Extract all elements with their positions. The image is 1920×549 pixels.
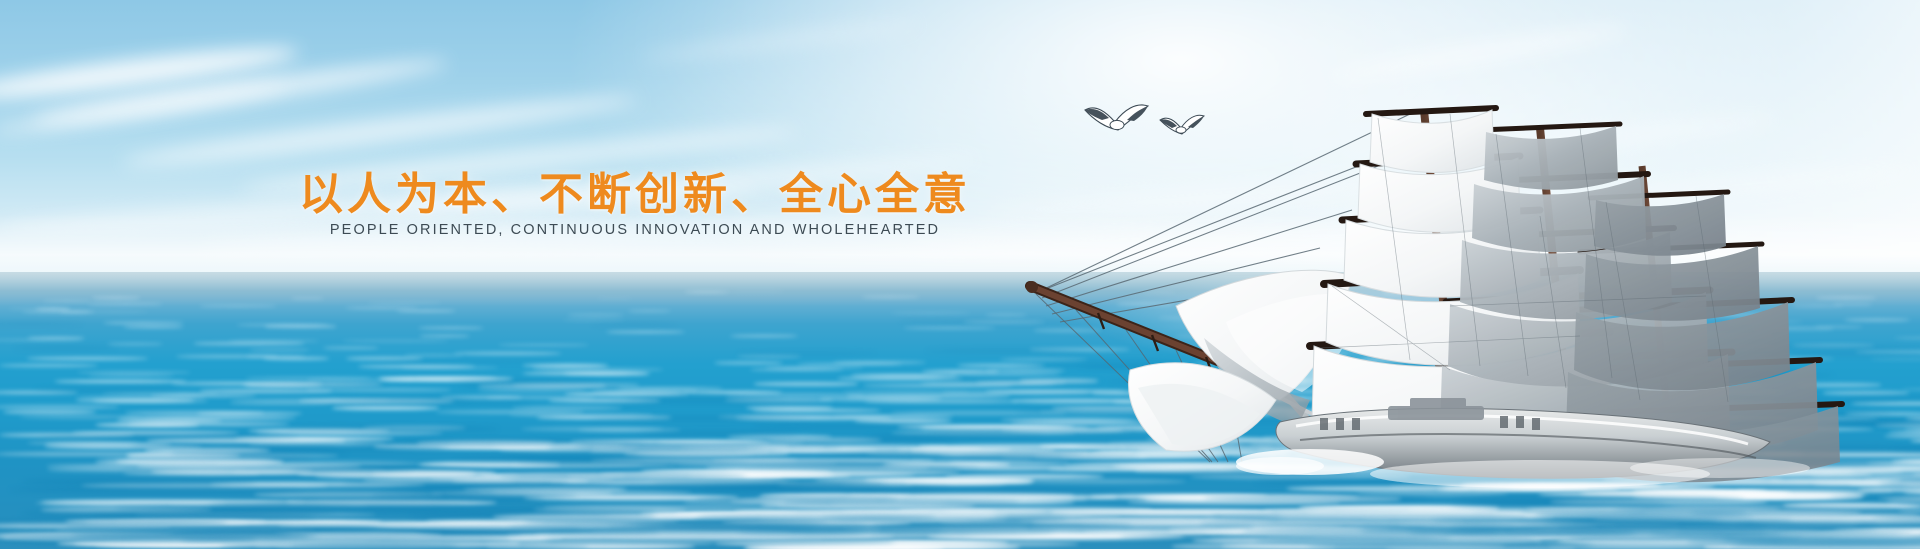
hero-banner: 以人为本、不断创新、全心全意 PEOPLE ORIENTED, CONTINUO… bbox=[0, 0, 1920, 549]
banner-headline: 以人为本、不断创新、全心全意 bbox=[0, 158, 1270, 222]
seagull-icon bbox=[1158, 112, 1206, 147]
banner-subheadline: PEOPLE ORIENTED, CONTINUOUS INNOVATION A… bbox=[0, 222, 1270, 238]
seagull-icon bbox=[1082, 100, 1152, 147]
